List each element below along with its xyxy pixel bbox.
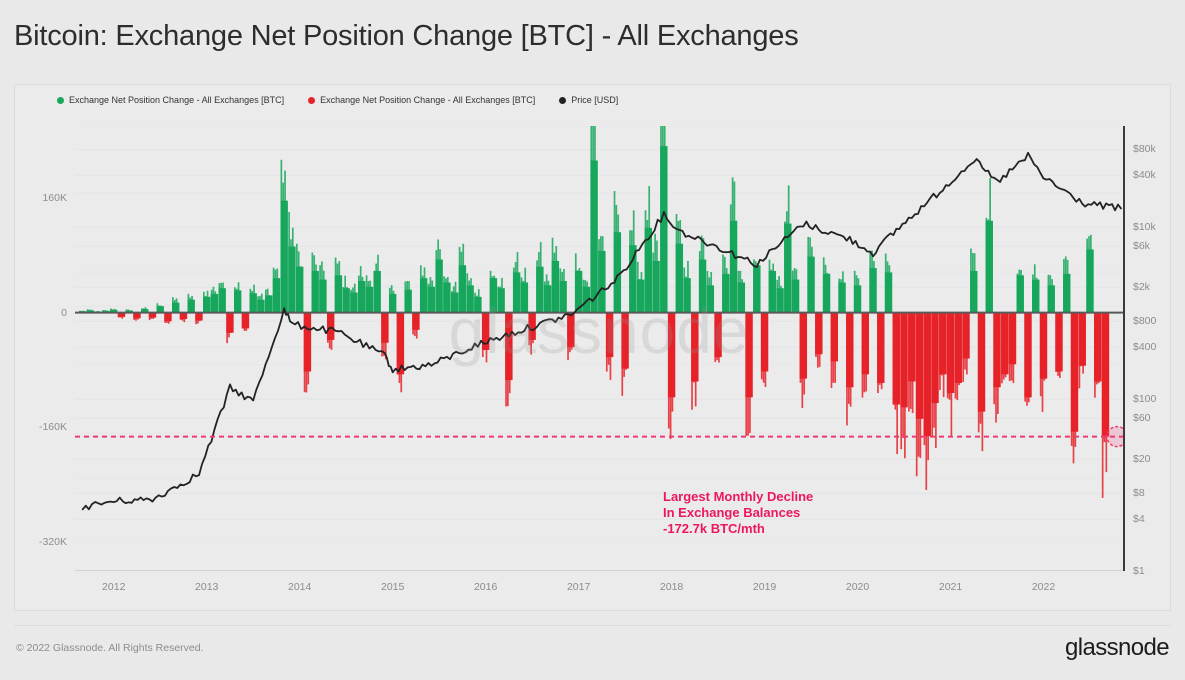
y-axis-right-tick: $10k	[1133, 221, 1156, 233]
bar-wick	[918, 313, 920, 457]
bar-wick	[912, 313, 914, 413]
bar-wick	[716, 313, 718, 361]
bar-wick	[513, 268, 515, 313]
bar-wick	[422, 276, 424, 313]
bar-wick	[269, 295, 271, 312]
bar-wick	[335, 258, 337, 313]
bar-wick	[352, 288, 354, 313]
bar-wick	[893, 313, 895, 405]
y-axis-right-tick: $60	[1133, 412, 1151, 424]
bar-wick	[848, 313, 850, 404]
bar-wick	[267, 289, 269, 313]
x-axis-line	[75, 570, 1123, 571]
bar-wick	[400, 313, 402, 393]
bar-wick	[834, 313, 836, 383]
bar-wick	[234, 287, 236, 312]
bar-wick	[1034, 264, 1036, 312]
bar-wick	[312, 253, 314, 313]
bar-wick	[910, 313, 912, 409]
bar-wick	[623, 313, 625, 377]
y-axis-right-tick: $80k	[1133, 143, 1156, 155]
bar-wick	[300, 266, 302, 312]
bar-wick	[222, 283, 224, 313]
bar-wick	[462, 244, 464, 313]
bar-wick	[199, 313, 201, 321]
bar-wick	[832, 313, 834, 383]
bar-wick	[505, 313, 507, 407]
bar-wick	[1011, 313, 1013, 381]
bar-wick	[579, 268, 581, 313]
bar-wick	[617, 214, 619, 312]
bar-wick	[683, 268, 685, 313]
bar-wick	[602, 236, 604, 312]
y-axis-right-tick: $40k	[1133, 169, 1156, 181]
bar-wick	[399, 313, 401, 383]
bar-wick	[182, 313, 184, 321]
bar-wick	[995, 313, 997, 423]
bar-wick	[329, 313, 331, 349]
bar-wick	[885, 254, 887, 313]
bar-wick	[958, 313, 960, 385]
bar-wick	[435, 250, 437, 312]
bar-wick	[321, 262, 323, 313]
bar-wick	[941, 313, 943, 376]
bar-wick	[962, 313, 964, 382]
bar-wick	[1005, 313, 1007, 378]
legend-label-price: Price [USD]	[571, 95, 618, 105]
bar-wick	[236, 289, 238, 313]
bar-wick	[195, 313, 197, 325]
bar-wick	[509, 313, 511, 394]
bar-wick	[459, 247, 461, 313]
bar-wick	[1075, 313, 1077, 447]
bar-wick	[871, 251, 873, 313]
bar-wick	[778, 276, 780, 313]
bar-wick	[633, 210, 635, 312]
bar-wick	[284, 171, 286, 313]
bar-wick	[974, 253, 976, 312]
bar-wick	[501, 278, 503, 313]
bar-wick	[430, 277, 432, 312]
bar-wick	[956, 313, 958, 401]
bar-wick	[455, 282, 457, 313]
y-axis-right-tick: $1	[1133, 565, 1145, 577]
bar-wick	[391, 285, 393, 312]
bar-wick	[468, 281, 470, 313]
bar-wick	[772, 264, 774, 313]
bar-wick	[257, 296, 259, 312]
legend-item-net-position-positive[interactable]: Exchange Net Position Change - All Excha…	[57, 95, 284, 105]
bar-wick	[881, 313, 883, 390]
bar-wick	[313, 255, 315, 312]
bar-wick	[800, 313, 802, 383]
bar-wick	[786, 211, 788, 312]
chart-page: Bitcoin: Exchange Net Position Change [B…	[0, 0, 1185, 680]
bar-wick	[933, 313, 935, 428]
bar-wick	[306, 313, 308, 393]
bar-wick	[369, 281, 371, 313]
bar-wick	[997, 313, 999, 414]
bar-wick	[583, 280, 585, 313]
bar-wick	[337, 264, 339, 313]
bar-wick	[701, 235, 703, 312]
reference-marker-icon	[1107, 427, 1123, 447]
bar-wick	[1086, 239, 1088, 313]
bar-wick	[827, 273, 829, 313]
bar-wick	[621, 313, 623, 396]
bar-wick	[298, 251, 300, 312]
bar-wick	[276, 268, 278, 312]
bar-wick	[858, 278, 860, 312]
bar-wick	[724, 257, 726, 313]
bar-wick	[323, 271, 325, 313]
chart-svg	[75, 126, 1123, 571]
bar-wick	[916, 313, 918, 477]
bar-wick	[703, 238, 705, 312]
bar-wick	[741, 279, 743, 312]
bar-wick	[664, 126, 666, 313]
bar-wick	[1040, 313, 1042, 397]
bar-wick	[726, 268, 728, 313]
bar-wick	[490, 271, 492, 313]
y-axis-right-tick: $2k	[1133, 281, 1150, 293]
bar-wick	[809, 237, 811, 312]
bar-wick	[1051, 279, 1053, 312]
bar-wick	[980, 313, 982, 424]
bar-wick	[253, 285, 255, 313]
bar-wick	[879, 313, 881, 385]
bar-wick	[1106, 313, 1108, 473]
bar-wick	[157, 303, 159, 312]
bar-wick	[360, 266, 362, 313]
bar-wick	[412, 313, 414, 335]
y-axis-right-tick: $800	[1133, 315, 1156, 327]
bar-wick	[507, 313, 509, 407]
bar-wick	[555, 246, 557, 313]
bar-wick	[577, 270, 579, 312]
bar-wick	[492, 276, 494, 312]
bar-wick	[1063, 259, 1065, 313]
bar-wick	[408, 281, 410, 312]
bar-wick	[191, 296, 193, 313]
bar-wick	[749, 313, 751, 433]
bar-wick	[825, 265, 827, 313]
bar-wick	[158, 306, 160, 313]
bar-wick	[856, 275, 858, 312]
bar-wick	[1102, 313, 1104, 498]
bar-wick	[908, 313, 910, 412]
legend-label-net-position-positive: Exchange Net Position Change - All Excha…	[69, 95, 284, 105]
bar-wick	[342, 287, 344, 313]
bar-wick	[1009, 313, 1011, 381]
bar-wick	[445, 278, 447, 312]
bar-wick	[629, 230, 631, 312]
bar-wick	[803, 313, 805, 395]
bar-wick	[397, 313, 399, 375]
bar-wick	[281, 160, 283, 313]
bar-wick	[482, 313, 484, 357]
bar-wick	[854, 271, 856, 313]
bar-wick	[947, 313, 949, 399]
annotation-line-1: Largest Monthly Decline	[663, 489, 813, 505]
bar-wick	[540, 242, 542, 313]
bar-wick	[794, 268, 796, 313]
bar-wick	[350, 290, 352, 313]
bar-wick	[654, 234, 656, 313]
bar-wick	[608, 313, 610, 365]
bar-wick	[497, 287, 499, 313]
bar-wick	[346, 287, 348, 313]
bar-wick	[765, 313, 767, 387]
y-axis-right-line	[1123, 126, 1125, 571]
bar-wick	[135, 313, 137, 321]
bar-wick	[645, 210, 647, 312]
bar-wick	[757, 263, 759, 313]
bar-wick	[288, 212, 290, 313]
bar-wick	[548, 281, 550, 313]
bar-wick	[850, 313, 852, 407]
legend-dot-red	[308, 97, 315, 104]
bar-wick	[160, 306, 162, 313]
bar-wick	[815, 313, 817, 357]
bar-wick	[214, 291, 216, 312]
bar-wick	[1003, 313, 1005, 380]
bar-wick	[532, 313, 534, 344]
bar-wick	[801, 313, 803, 408]
bar-wick	[420, 265, 422, 312]
bar-wick	[788, 185, 790, 312]
bar-wick	[920, 313, 922, 458]
bar-wick	[831, 313, 833, 388]
bar-wick	[561, 272, 563, 313]
bar-wick	[166, 313, 168, 323]
bar-wick	[447, 277, 449, 313]
bar-wick	[470, 278, 472, 312]
bar-wick	[935, 313, 937, 449]
bar-wick	[344, 276, 346, 313]
bar-wick	[714, 313, 716, 362]
bar-wick	[668, 313, 670, 429]
bar-wick	[569, 313, 571, 353]
copyright-text: © 2022 Glassnode. All Rights Reserved.	[16, 642, 204, 654]
bar-wick	[770, 270, 772, 313]
bar-wick	[319, 265, 321, 312]
y-axis-right-tick: $20	[1133, 453, 1151, 465]
bar-wick	[900, 313, 902, 450]
bar-wick	[354, 284, 356, 313]
bar-wick	[792, 271, 794, 313]
bar-wick	[637, 262, 639, 313]
bar-wick	[1065, 256, 1067, 312]
bar-wick	[265, 290, 267, 313]
glassnode-logo: glassnode	[1065, 634, 1169, 662]
bar-wick	[763, 313, 765, 383]
bar-wick	[1059, 313, 1061, 378]
bar-wick	[358, 276, 360, 313]
bar-wick	[776, 280, 778, 313]
bar-wick	[670, 313, 672, 439]
bar-wick	[226, 313, 228, 344]
bar-wick	[521, 277, 523, 312]
bar-wick	[282, 183, 284, 313]
bar-wick	[707, 271, 709, 313]
bar-wick	[1082, 313, 1084, 374]
bar-wick	[978, 313, 980, 433]
bar-wick	[951, 313, 953, 437]
bar-wick	[428, 284, 430, 313]
bar-wick	[1036, 278, 1038, 313]
bar-wick	[220, 283, 222, 313]
bar-wick	[211, 290, 213, 313]
bar-wick	[207, 291, 209, 313]
bar-wick	[439, 249, 441, 312]
plot-canvas[interactable]: glassnode	[75, 126, 1123, 571]
bar-wick	[931, 313, 933, 437]
bar-wick	[424, 267, 426, 312]
bar-wick	[571, 313, 573, 350]
bar-wick	[1071, 313, 1073, 446]
y-axis-right-tick: $8	[1133, 487, 1145, 499]
chart-card: Exchange Net Position Change - All Excha…	[14, 84, 1171, 611]
bar-wick	[137, 313, 139, 320]
bar-wick	[718, 313, 720, 363]
bar-wick	[546, 274, 548, 312]
y-axis-right-tick: $100	[1133, 393, 1156, 405]
legend-item-price[interactable]: Price [USD]	[559, 95, 618, 105]
bar-wick	[755, 261, 757, 312]
bar-wick	[699, 251, 701, 313]
bar-wick	[972, 253, 974, 313]
bar-wick	[443, 276, 445, 312]
bar-wick	[149, 313, 151, 320]
bar-wick	[761, 313, 763, 380]
bar-wick	[383, 313, 385, 356]
bar-wick	[679, 220, 681, 313]
bar-wick	[1042, 313, 1044, 412]
bar-wick	[1001, 313, 1003, 384]
bar-wick	[586, 282, 588, 313]
bar-wick	[722, 254, 724, 312]
bar-wick	[493, 276, 495, 313]
bar-wick	[672, 313, 674, 412]
bar-wick	[290, 239, 292, 312]
footer-divider	[14, 625, 1171, 626]
bar-wick	[970, 249, 972, 313]
x-axis-tick: 2012	[102, 581, 125, 593]
bar-wick	[732, 177, 734, 312]
bar-wick	[1098, 313, 1100, 384]
x-axis-tick: 2017	[567, 581, 590, 593]
plot-area: glassnode	[75, 126, 1123, 571]
x-axis-tick: 2019	[753, 581, 776, 593]
bar-wick	[685, 277, 687, 313]
bar-wick	[986, 218, 988, 313]
bar-wick	[780, 286, 782, 313]
bar-wick	[1032, 274, 1034, 312]
annotation-line-2: In Exchange Balances	[663, 505, 813, 521]
bar-wick	[296, 244, 298, 313]
bar-wick	[307, 313, 309, 385]
bar-wick	[466, 273, 468, 312]
bar-wick	[499, 287, 501, 313]
bar-wick	[393, 291, 395, 313]
bar-wick	[838, 279, 840, 313]
bar-wick	[189, 298, 191, 313]
bar-wick	[709, 277, 711, 312]
bar-wick	[889, 265, 891, 312]
bar-wick	[691, 313, 693, 410]
bar-wick	[747, 313, 749, 436]
bar-wick	[174, 300, 176, 313]
bar-wick	[600, 236, 602, 312]
bar-wick	[259, 296, 261, 313]
bar-wick	[939, 313, 941, 390]
bar-wick	[865, 313, 867, 392]
bar-wick	[476, 296, 478, 313]
bar-wick	[807, 237, 809, 313]
legend-item-net-position-negative[interactable]: Exchange Net Position Change - All Excha…	[308, 95, 535, 105]
bar-wick	[552, 238, 554, 313]
bar-wick	[245, 313, 247, 331]
y-axis-left-tick: 0	[15, 307, 67, 319]
x-axis-tick: 2015	[381, 581, 404, 593]
bar-wick	[784, 222, 786, 313]
bar-wick	[614, 191, 616, 313]
bar-wick	[381, 313, 383, 357]
bar-wick	[594, 126, 596, 313]
bar-wick	[176, 298, 178, 312]
bar-wick	[203, 292, 205, 313]
x-axis-tick: 2014	[288, 581, 311, 593]
bar-wick	[292, 228, 294, 313]
bar-wick	[244, 313, 246, 331]
bar-wick	[887, 261, 889, 312]
bar-wick	[924, 313, 926, 446]
bar-wick	[1017, 274, 1019, 313]
bar-wick	[1026, 313, 1028, 406]
bar-wick	[461, 252, 463, 313]
bar-wick	[598, 239, 600, 312]
bar-wick	[431, 280, 433, 312]
bar-wick	[304, 313, 306, 393]
x-axis-tick: 2016	[474, 581, 497, 593]
bar-wick	[955, 313, 957, 399]
bar-wick	[840, 279, 842, 312]
bar-wick	[693, 313, 695, 383]
bar-wick	[862, 313, 864, 398]
bar-wick	[389, 288, 391, 313]
bar-wick	[585, 280, 587, 312]
bar-wick	[987, 219, 989, 312]
bar-wick	[863, 313, 865, 393]
bar-wick	[753, 259, 755, 312]
bar-wick	[478, 289, 480, 313]
bar-wick	[1044, 313, 1046, 381]
bar-wick	[966, 313, 968, 375]
bar-wick	[927, 313, 929, 461]
bar-wick	[168, 313, 170, 324]
bar-wick	[925, 313, 927, 490]
bar-wick	[251, 291, 253, 313]
bar-wick	[817, 313, 819, 368]
y-axis-right-tick: $400	[1133, 341, 1156, 353]
bar-wick	[652, 253, 654, 313]
bar-wick	[1080, 313, 1082, 367]
x-axis-tick: 2020	[846, 581, 869, 593]
bar-wick	[416, 313, 418, 339]
bar-wick	[846, 313, 848, 426]
bar-wick	[366, 275, 368, 312]
